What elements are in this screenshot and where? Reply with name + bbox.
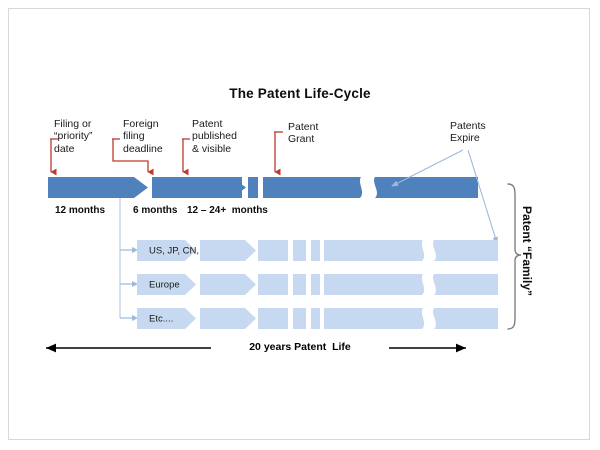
family-row-3-seg-c <box>293 308 306 329</box>
family-row-2-seg-d <box>311 274 320 295</box>
family-row-1-label: US, JP, CN, <box>149 245 199 256</box>
timeline-bar-filing <box>48 177 148 198</box>
timeline-bar-grant <box>275 177 362 198</box>
family-row-3-label: Etc.... <box>149 313 173 324</box>
timeline-bar-term <box>374 177 478 198</box>
timeline-bar-publication-seg3 <box>248 177 258 198</box>
family-row-1-seg-b <box>258 240 288 261</box>
family-row-2-seg-c <box>293 274 306 295</box>
family-row-3-grant-bar <box>330 308 424 329</box>
family-row-2-grant-bar <box>330 274 424 295</box>
annotation-filing-label: Filing or “priority” date <box>54 118 93 155</box>
family-row-3-term-bar <box>433 308 498 329</box>
duration-label-12-24-months: 12 – 24+ months <box>187 205 268 217</box>
family-row-1-seg-a <box>200 240 256 261</box>
diagram-canvas: US, JP, CN, Europe <box>0 0 600 450</box>
family-row-2-seg-b <box>258 274 288 295</box>
family-row-etc: Etc.... <box>137 308 498 329</box>
family-bracket-label: Patent “Family” <box>520 206 534 326</box>
family-row-2-label: Europe <box>149 279 180 290</box>
timeline-bar-publication-seg1 <box>187 177 220 198</box>
annotation-foreign-filing-label: Foreign filing deadline <box>123 118 163 155</box>
family-row-2-term-bar <box>433 274 498 295</box>
family-row-3-seg-d <box>311 308 320 329</box>
family-row-3-seg-b <box>258 308 288 329</box>
timespan-label: 20 years Patent Life <box>0 341 600 353</box>
family-row-1-term-bar <box>433 240 498 261</box>
family-row-2-seg-a <box>200 274 256 295</box>
annotation-grant-label: Patent Grant <box>288 121 318 146</box>
annotation-expire-label: Patents Expire <box>450 120 486 145</box>
family-row-1-seg-c <box>293 240 306 261</box>
family-row-europe: Europe <box>137 274 498 295</box>
duration-label-6-months: 6 months <box>133 205 177 217</box>
timeline-bar-publication-seg2 <box>226 177 242 198</box>
family-row-1-grant-bar <box>330 240 424 261</box>
annotation-published-label: Patent published & visible <box>192 118 237 155</box>
family-row-us-jp-cn: US, JP, CN, <box>137 240 498 261</box>
patent-lifecycle-diagram: The Patent Life-Cycle <box>0 0 600 450</box>
family-row-1-seg-d <box>311 240 320 261</box>
duration-label-12-months: 12 months <box>55 205 105 217</box>
family-row-3-seg-a <box>200 308 256 329</box>
